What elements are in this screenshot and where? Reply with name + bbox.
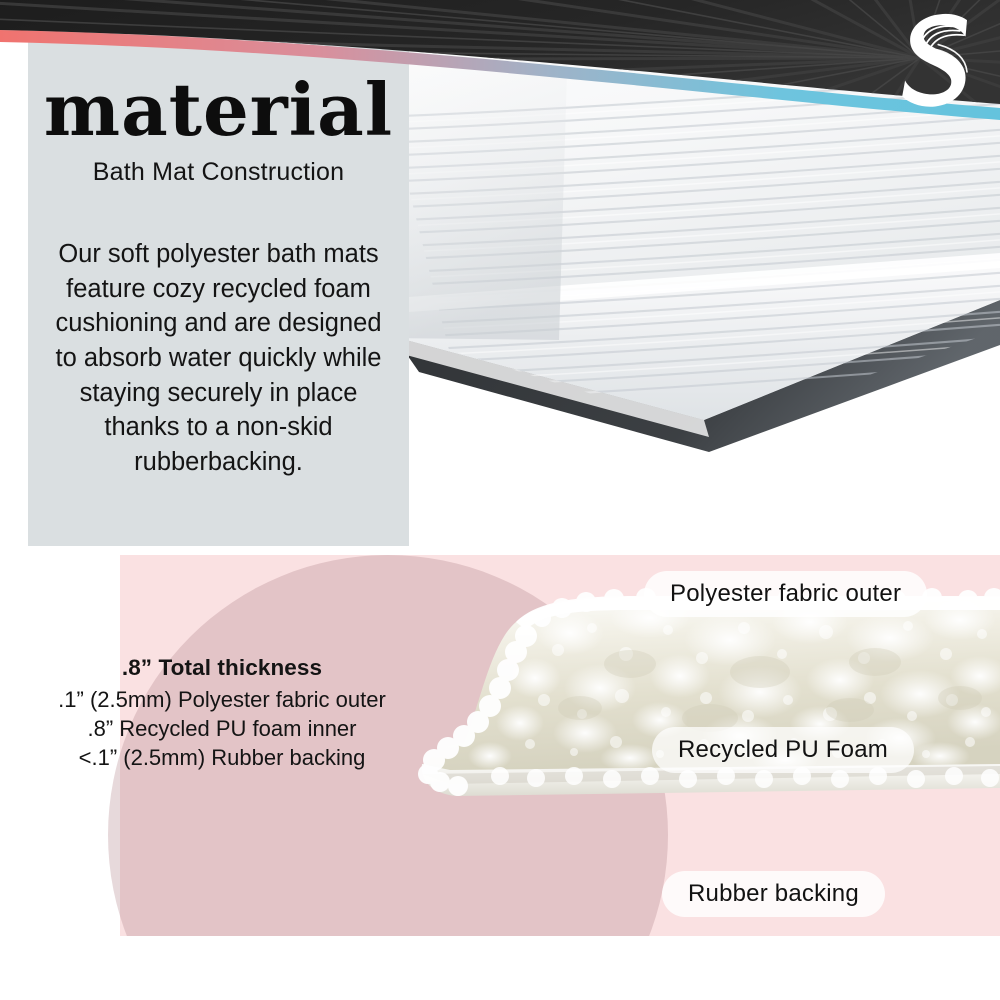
page-subtitle: Bath Mat Construction [40,158,397,187]
spec-total-thickness: .8” Total thickness [22,655,422,681]
callout-polyester-fabric-outer: Polyester fabric outer [644,571,927,617]
bottom-white-margin [0,936,1000,1000]
product-photo-cross-section [330,588,1000,848]
callout-recycled-pu-foam: Recycled PU Foam [652,727,914,773]
intro-paragraph: Our soft polyester bath mats feature coz… [40,237,397,480]
spec-line-foam: .8” Recycled PU foam inner [22,714,422,743]
top-banner [0,0,1000,120]
infographic-canvas: material Bath Mat Construction Our soft … [0,0,1000,1000]
spec-line-polyester: .1” (2.5mm) Polyester fabric outer [22,685,422,714]
callout-rubber-backing: Rubber backing [662,871,885,917]
spec-line-rubber: <.1” (2.5mm) Rubber backing [22,743,422,772]
spec-list: .8” Total thickness .1” (2.5mm) Polyeste… [22,655,422,772]
